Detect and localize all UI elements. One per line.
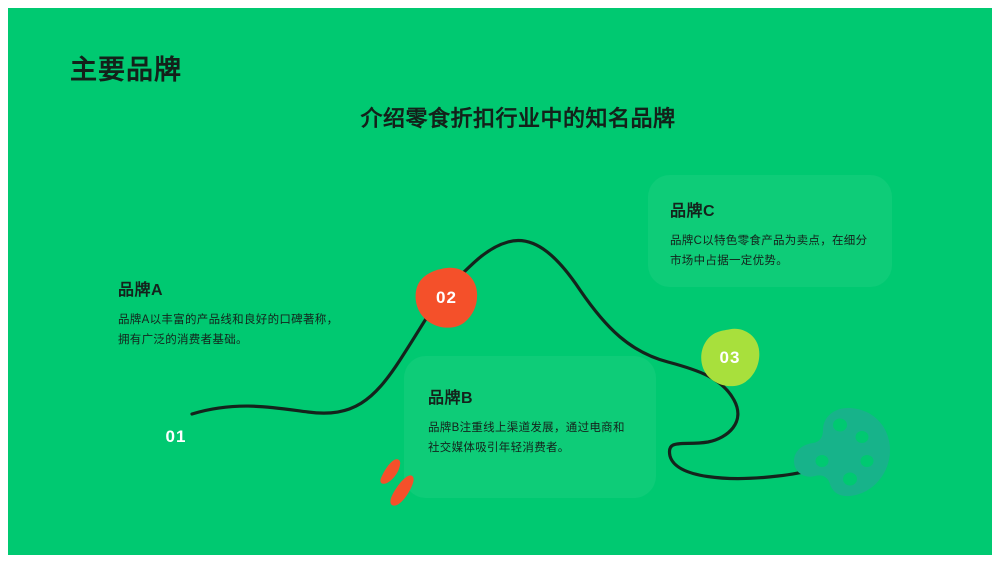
paint-palette-icon [792,406,892,498]
step-marker-02-label: 02 [436,288,457,308]
card-brand-b-title: 品牌B [428,384,630,408]
card-brand-a-body: 品牌A以丰富的产品线和良好的口碑著称，拥有广泛的消费者基础。 [118,311,350,351]
card-brand-a-title: 品牌A [118,276,350,300]
card-brand-c: 品牌C 品牌C以特色零食产品为卖点，在细分市场中占据一定优势。 [648,175,892,287]
page-subtitle: 介绍零食折扣行业中的知名品牌 [8,101,992,133]
step-marker-03-label: 03 [720,348,741,368]
card-brand-b-body: 品牌B注重线上渠道发展，通过电商和社交媒体吸引年轻消费者。 [428,419,630,459]
slash-marks-icon [374,456,424,508]
step-marker-01-label: 01 [166,427,187,447]
card-brand-c-title: 品牌C [670,197,868,221]
card-brand-b: 品牌B 品牌B注重线上渠道发展，通过电商和社交媒体吸引年轻消费者。 [404,356,656,498]
slide-canvas: 主要品牌 介绍零食折扣行业中的知名品牌 品牌A 品牌A以丰富的产品线和良好的口碑… [8,8,992,555]
step-marker-01: 01 [156,423,196,451]
card-brand-c-body: 品牌C以特色零食产品为卖点，在细分市场中占据一定优势。 [670,232,868,272]
step-marker-03: 03 [700,328,760,388]
step-marker-02: 02 [415,266,478,329]
page-title: 主要品牌 [70,48,182,87]
card-brand-a: 品牌A 品牌A以丰富的产品线和良好的口碑著称，拥有广泛的消费者基础。 [118,270,350,351]
